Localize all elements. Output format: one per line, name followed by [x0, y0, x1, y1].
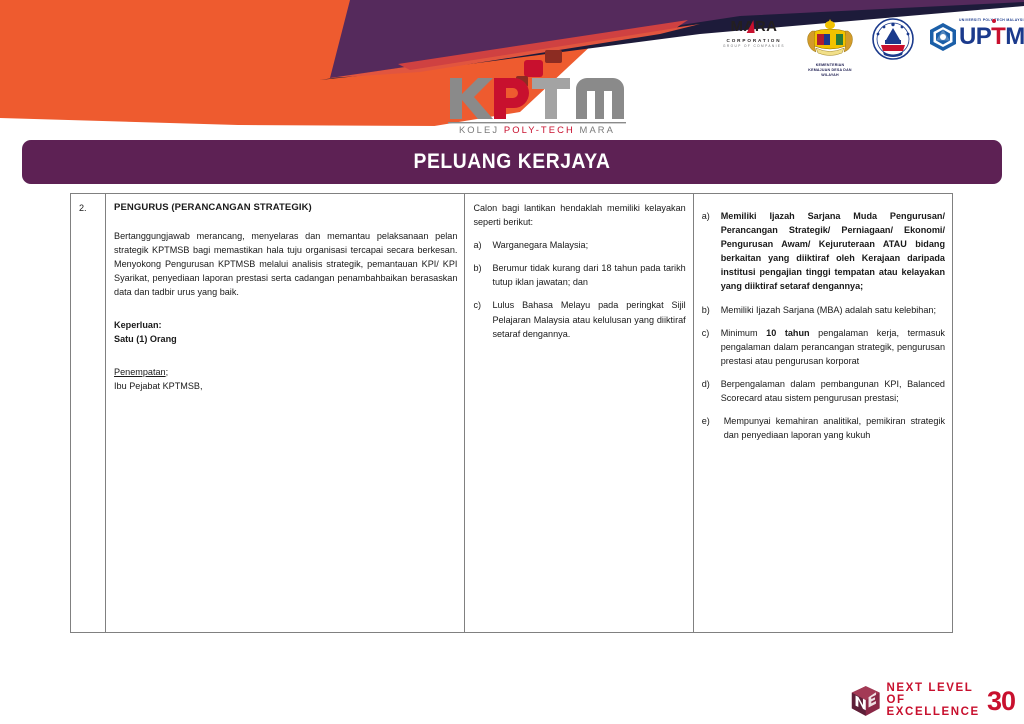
- list-marker: a): [702, 209, 721, 294]
- svg-text:KOLEJ POLY-TECH MARA: KOLEJ POLY-TECH MARA: [459, 124, 615, 135]
- list-item: e) Mempunyai kemahiran analitikal, pemik…: [702, 414, 945, 442]
- list-marker: c): [702, 326, 721, 368]
- cell-specific-requirements: a) Memiliki Ijazah Sarjana Muda Pengurus…: [693, 194, 952, 633]
- list-text: Memiliki Ijazah Sarjana Muda Pengurusan/…: [721, 209, 945, 294]
- job-listing-table: 2. PENGURUS (PERANCANGAN STRATEGIK) Bert…: [70, 193, 953, 633]
- page-banner: PELUANG KERJAYA: [22, 140, 1002, 184]
- nle-line-1: NEXT LEVEL OF: [887, 683, 987, 706]
- jata-caption: KEMENTERIAN KEMAJUAN DESA DAN WILAYAH: [802, 63, 858, 78]
- nle-anniversary-number: 30: [987, 690, 1015, 712]
- list-text-emphasis: 10 tahun: [766, 328, 809, 338]
- list-item: a) Warganegara Malaysia;: [473, 238, 685, 252]
- jata-caption-line2: KEMAJUAN DESA DAN WILAYAH: [808, 68, 851, 77]
- next-level-of-excellence-logo: NEXT LEVEL OF EXCELLENCE 30: [850, 681, 1015, 721]
- majlis-teknologi-seal-icon: [872, 18, 914, 60]
- list-item: c) Lulus Bahasa Melayu pada peringkat Si…: [473, 298, 685, 340]
- list-marker: b): [702, 303, 721, 317]
- job-description: Bertanggungjawab merancang, menyelaras d…: [114, 229, 457, 299]
- list-marker: a): [473, 238, 492, 252]
- jata-negara-crest-icon: [802, 18, 858, 56]
- cell-row-number: 2.: [71, 194, 106, 633]
- cell-general-requirements: Calon bagi lantikan hendaklah memiliki k…: [465, 194, 693, 633]
- nle-line-2: EXCELLENCE: [887, 707, 987, 719]
- kptm-logo: KOLEJ POLY-TECH MARA: [432, 48, 642, 136]
- list-text: Mempunyai kemahiran analitikal, pemikira…: [724, 414, 945, 442]
- mara-subtitle-2: GROUP OF COMPANIES: [718, 44, 790, 48]
- penempatan-value: Ibu Pejabat KPTMSB,: [114, 379, 457, 393]
- mara-subtitle-1: CORPORATION: [718, 38, 790, 43]
- list-text: Berpengalaman dalam pembangunan KPI, Bal…: [721, 377, 945, 405]
- list-marker: d): [702, 377, 721, 405]
- list-item: a) Memiliki Ijazah Sarjana Muda Pengurus…: [702, 209, 945, 294]
- uptm-wordmark: UPTM: [959, 27, 1024, 47]
- list-item: c) Minimum 10 tahun pengalaman kerja, te…: [702, 326, 945, 368]
- penempatan-heading: Penempatan;: [114, 365, 457, 379]
- page-title: PELUANG KERJAYA: [414, 150, 611, 174]
- keperluan-value: Satu (1) Orang: [114, 332, 457, 346]
- row-number: 2.: [79, 203, 87, 213]
- penempatan-separator: ;: [166, 367, 169, 377]
- jata-caption-line1: KEMENTERIAN: [816, 63, 845, 67]
- list-text: Lulus Bahasa Melayu pada peringkat Sijil…: [492, 298, 685, 340]
- uptm-logo: UPTM UNIVERSITI POLY-TECH MALAYSIA: [928, 18, 1024, 52]
- table-row: 2. PENGURUS (PERANCANGAN STRATEGIK) Bert…: [71, 194, 953, 633]
- general-intro: Calon bagi lantikan hendaklah memiliki k…: [473, 201, 685, 229]
- uptm-hex-icon: [928, 22, 958, 52]
- list-text: Memiliki Ijazah Sarjana (MBA) adalah sat…: [721, 303, 945, 317]
- list-text-pre: Minimum: [721, 328, 766, 338]
- mara-corporation-logo: MARA CORPORATION GROUP OF COMPANIES: [718, 18, 790, 48]
- majlis-teknologi-logo: [870, 18, 916, 65]
- list-text: Warganegara Malaysia;: [492, 238, 685, 252]
- list-item: d) Berpengalaman dalam pembangunan KPI, …: [702, 377, 945, 405]
- list-item: b) Berumur tidak kurang dari 18 tahun pa…: [473, 261, 685, 289]
- list-text: Berumur tidak kurang dari 18 tahun pada …: [492, 261, 685, 289]
- list-marker: e): [702, 414, 724, 442]
- job-title: PENGURUS (PERANCANGAN STRATEGIK): [114, 201, 457, 216]
- list-marker: b): [473, 261, 492, 289]
- list-text: Minimum 10 tahun pengalaman kerja, terma…: [721, 326, 945, 368]
- list-marker: c): [473, 298, 492, 340]
- nle-cube-icon: [850, 684, 882, 718]
- list-item: b) Memiliki Ijazah Sarjana (MBA) adalah …: [702, 303, 945, 317]
- uptm-dot-icon: [992, 19, 996, 23]
- cell-job-description: PENGURUS (PERANCANGAN STRATEGIK) Bertang…: [106, 194, 465, 633]
- mara-wordmark: MARA: [731, 19, 778, 34]
- partner-logos: MARA CORPORATION GROUP OF COMPANIES KEME…: [718, 18, 1024, 78]
- jata-negara-logo: KEMENTERIAN KEMAJUAN DESA DAN WILAYAH: [802, 18, 858, 78]
- penempatan-label: Penempatan: [114, 367, 166, 377]
- keperluan-label: Keperluan:: [114, 318, 457, 332]
